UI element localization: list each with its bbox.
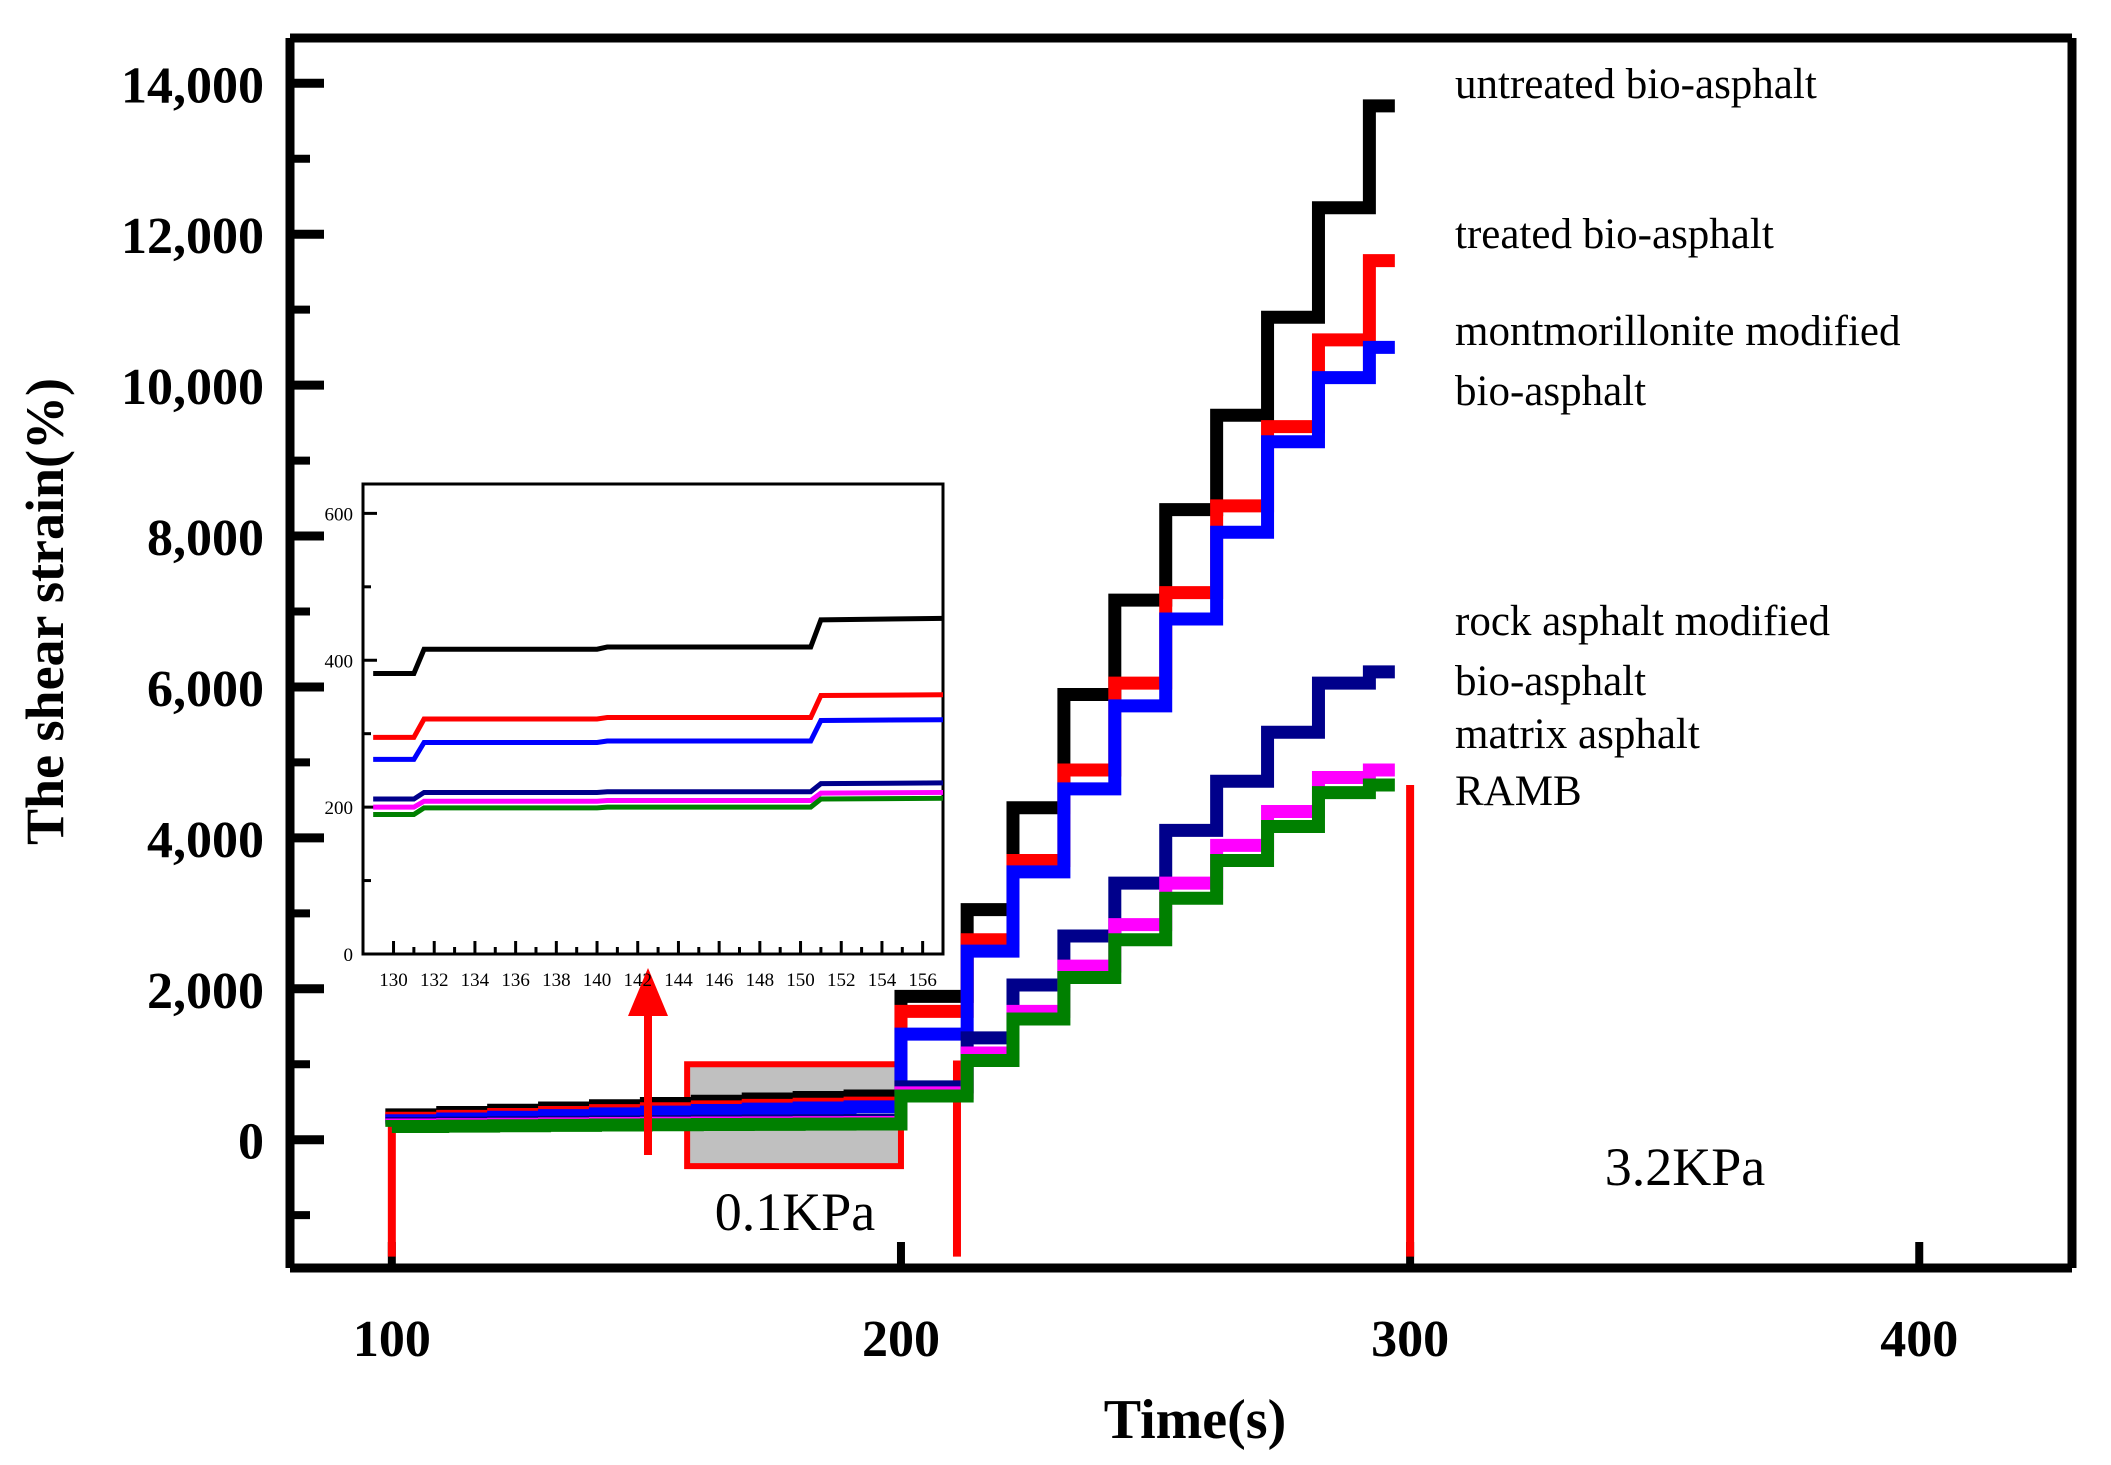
svg-text:154: 154 — [868, 970, 897, 991]
y-axis-ticks — [290, 83, 324, 1215]
svg-text:0: 0 — [344, 945, 354, 966]
legend-label: bio-asphalt — [1455, 658, 1646, 705]
svg-text:14,000: 14,000 — [121, 57, 264, 114]
svg-text:300: 300 — [1371, 1311, 1449, 1368]
legend-label: montmorillonite modified — [1455, 308, 1900, 355]
svg-text:134: 134 — [461, 970, 490, 991]
svg-text:200: 200 — [325, 798, 354, 819]
y-axis-tick-labels: 02,0004,0006,0008,00010,00012,00014,000 — [121, 57, 264, 1170]
x-axis-tick-labels: 100200300400 — [353, 1311, 1958, 1368]
svg-text:2,000: 2,000 — [147, 963, 264, 1020]
svg-text:4,000: 4,000 — [147, 812, 264, 869]
legend-label: untreated bio-asphalt — [1455, 61, 1817, 108]
legend-label: bio-asphalt — [1455, 368, 1646, 415]
svg-text:8,000: 8,000 — [147, 510, 264, 567]
legend-label: RAMB — [1455, 768, 1582, 815]
chart-svg: 02,0004,0006,0008,00010,00012,00014,000 … — [0, 0, 2111, 1465]
legend: untreated bio-asphalttreated bio-asphalt… — [1455, 61, 1900, 815]
y-axis-title: The shear strain(%) — [14, 378, 76, 845]
svg-text:146: 146 — [705, 970, 734, 991]
inset-x-tick-labels: 1301321341361381401421441461481501521541… — [379, 970, 937, 991]
annotation-pressure-low: 0.1KPa — [715, 1182, 876, 1242]
svg-text:400: 400 — [1880, 1311, 1958, 1368]
x-axis-title: Time(s) — [1104, 1389, 1287, 1451]
legend-label: matrix asphalt — [1455, 711, 1700, 758]
svg-text:0: 0 — [238, 1114, 264, 1171]
svg-text:148: 148 — [746, 970, 775, 991]
chart-canvas: The shear strain(%) 02,0004,0006,0008,00… — [0, 0, 2111, 1465]
svg-text:600: 600 — [325, 504, 354, 525]
legend-label: treated bio-asphalt — [1455, 211, 1774, 258]
annotation-pressure-high: 3.2KPa — [1605, 1137, 1766, 1197]
svg-text:100: 100 — [353, 1311, 431, 1368]
svg-text:6,000: 6,000 — [147, 661, 264, 718]
svg-text:200: 200 — [862, 1311, 940, 1368]
svg-text:150: 150 — [786, 970, 815, 991]
svg-text:400: 400 — [325, 651, 354, 672]
svg-text:156: 156 — [908, 970, 937, 991]
svg-text:138: 138 — [542, 970, 571, 991]
svg-text:130: 130 — [379, 970, 408, 991]
svg-text:132: 132 — [420, 970, 449, 991]
inset-plot: 0200400600 13013213413613814014214414614… — [325, 484, 944, 991]
svg-text:144: 144 — [664, 970, 693, 991]
svg-text:152: 152 — [827, 970, 856, 991]
svg-text:136: 136 — [501, 970, 530, 991]
svg-text:10,000: 10,000 — [121, 359, 264, 416]
svg-text:142: 142 — [623, 970, 652, 991]
legend-label: rock asphalt modified — [1455, 598, 1830, 645]
svg-text:140: 140 — [583, 970, 612, 991]
inset-y-tick-labels: 0200400600 — [325, 504, 354, 966]
svg-text:12,000: 12,000 — [121, 208, 264, 265]
